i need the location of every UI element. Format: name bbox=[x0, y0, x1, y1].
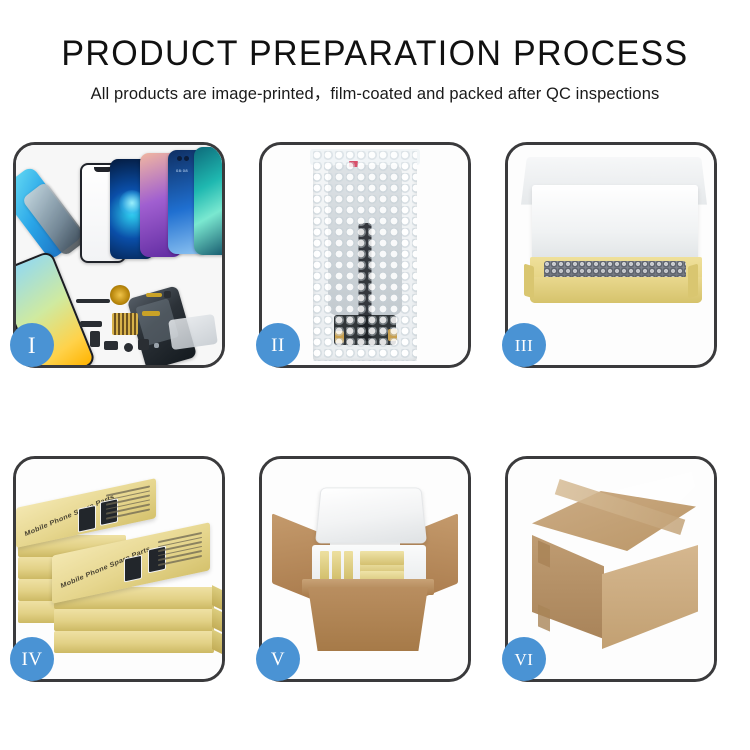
process-step-6[interactable]: VI bbox=[505, 456, 717, 682]
gold-connector-right-icon bbox=[388, 329, 397, 341]
button-part-icon bbox=[164, 291, 171, 298]
step-badge-3: III bbox=[502, 323, 546, 367]
front-camera-icon bbox=[177, 156, 182, 161]
screw-icon bbox=[154, 343, 159, 348]
copper-coil-icon bbox=[110, 285, 130, 305]
inner-box-5 bbox=[360, 551, 404, 565]
stacked-box-front-2 bbox=[54, 609, 214, 631]
red-label-icon bbox=[349, 161, 358, 167]
process-step-5[interactable]: V bbox=[259, 456, 471, 682]
stacked-box-front-3 bbox=[54, 631, 214, 653]
box-front-panel-icon bbox=[530, 277, 702, 303]
step-badge-1: I bbox=[10, 323, 54, 367]
page-title: PRODUCT PREPARATION PROCESS bbox=[11, 0, 739, 74]
box-left-ear-icon bbox=[524, 264, 534, 299]
earpiece-mesh-icon bbox=[76, 299, 110, 303]
step-badge-6: VI bbox=[502, 637, 546, 681]
box-screen-graphic-front-1 bbox=[124, 555, 142, 583]
bag-seal-icon bbox=[310, 149, 420, 165]
page-subtitle: All products are image-printed，film-coat… bbox=[0, 74, 750, 104]
status-bar-text: 08:08 bbox=[176, 168, 188, 173]
camera-lens-icon bbox=[124, 343, 133, 352]
bubble-wrap-bag bbox=[313, 151, 417, 361]
sim-tray-icon bbox=[104, 341, 118, 350]
process-step-3[interactable]: III bbox=[505, 142, 717, 368]
vibrator-icon bbox=[80, 321, 102, 327]
chip-array-icon bbox=[112, 313, 138, 335]
box-spec-lines-front bbox=[158, 532, 202, 571]
flex-cable-icon bbox=[146, 293, 162, 297]
gold-connector-left-icon bbox=[335, 331, 344, 343]
teal-swirl-phone-icon bbox=[194, 147, 222, 255]
process-step-4[interactable]: Mobile Phone Spare Parts Mobile Phone Sp… bbox=[13, 456, 225, 682]
box-spec-lines-back bbox=[106, 485, 150, 524]
foam-sheet-icon bbox=[532, 185, 698, 263]
carton-body-icon bbox=[308, 587, 428, 651]
process-step-grid: 08:08 bbox=[13, 142, 737, 682]
front-sensor-icon bbox=[184, 156, 189, 161]
step-badge-2: II bbox=[256, 323, 300, 367]
process-step-1[interactable]: 08:08 bbox=[13, 142, 225, 368]
repair-tool-icon bbox=[168, 314, 218, 350]
carton-seam-top-icon bbox=[538, 540, 550, 567]
sealed-carton-right-face-icon bbox=[602, 545, 698, 649]
connector-icon bbox=[90, 331, 100, 347]
header: PRODUCT PREPARATION PROCESS All products… bbox=[0, 0, 750, 104]
product-preparation-infographic: PRODUCT PREPARATION PROCESS All products… bbox=[0, 0, 750, 750]
box-screen-graphic-back-1 bbox=[78, 505, 96, 533]
box-right-ear-icon bbox=[688, 264, 698, 299]
step-badge-4: IV bbox=[10, 637, 54, 681]
process-step-2[interactable]: II bbox=[259, 142, 471, 368]
speaker-icon bbox=[138, 339, 149, 350]
antenna-cable-icon bbox=[142, 311, 160, 316]
box-stack: Mobile Phone Spare Parts Mobile Phone Sp… bbox=[22, 483, 222, 663]
step-badge-5: V bbox=[256, 637, 300, 681]
foam-lid-icon bbox=[315, 488, 427, 544]
carton-seam-bottom-icon bbox=[538, 604, 550, 631]
